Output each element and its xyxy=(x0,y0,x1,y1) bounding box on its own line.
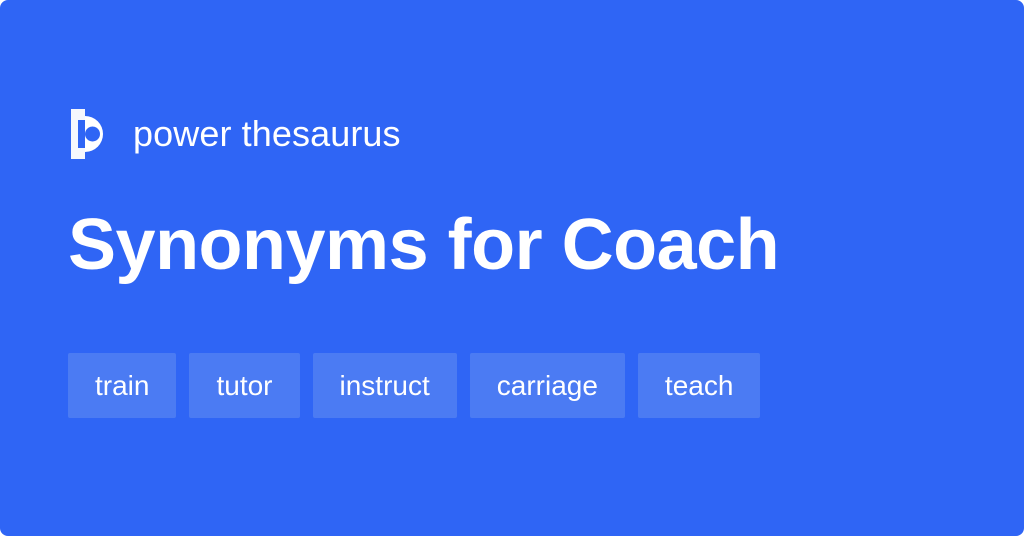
power-thesaurus-b-logo-icon xyxy=(68,109,112,159)
brand-lockup[interactable]: power thesaurus xyxy=(68,108,401,160)
synonym-chip[interactable]: carriage xyxy=(470,353,625,418)
synonym-chip-list: train tutor instruct carriage teach xyxy=(68,353,760,418)
synonyms-share-card: power thesaurus Synonyms for Coach train… xyxy=(0,0,1024,536)
synonym-chip[interactable]: train xyxy=(68,353,176,418)
page-title: Synonyms for Coach xyxy=(68,209,779,281)
synonym-chip[interactable]: tutor xyxy=(189,353,299,418)
brand-name: power thesaurus xyxy=(133,116,401,152)
synonym-chip[interactable]: instruct xyxy=(313,353,457,418)
synonym-chip[interactable]: teach xyxy=(638,353,761,418)
